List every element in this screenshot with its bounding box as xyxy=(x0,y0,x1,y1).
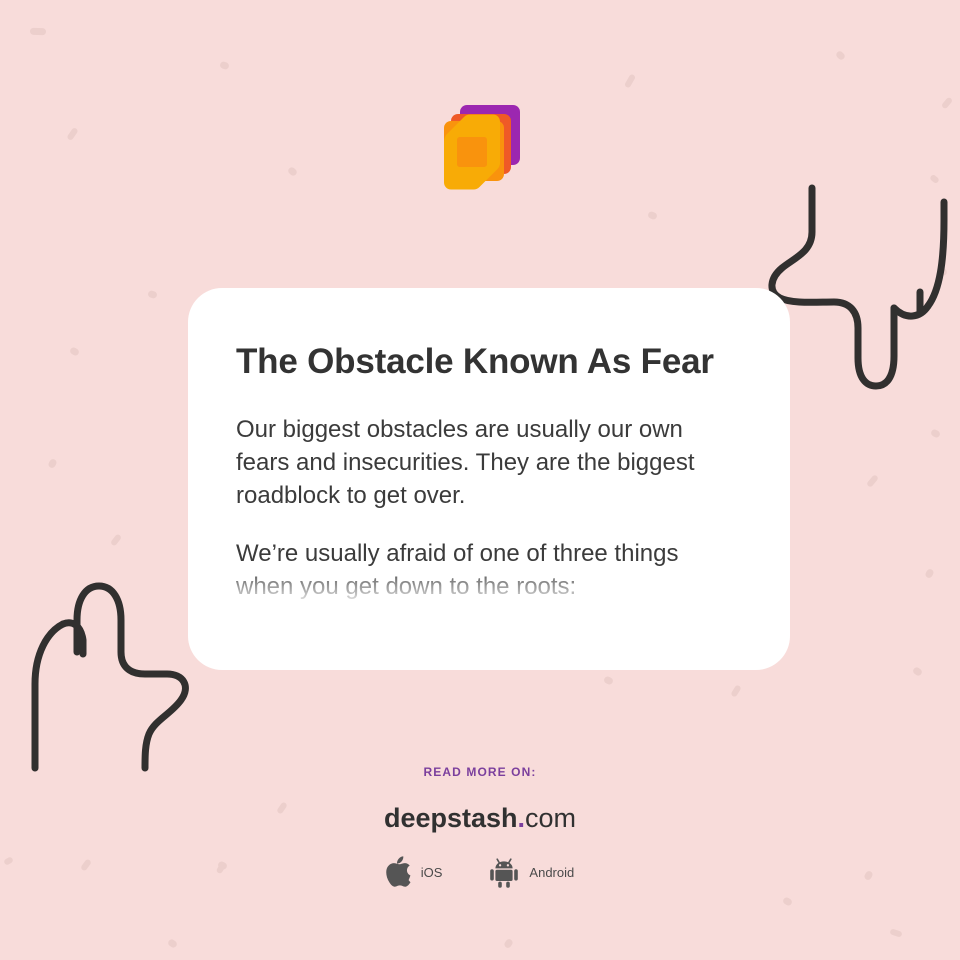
confetti-dash xyxy=(30,28,46,36)
logo-container xyxy=(0,103,960,199)
site-name-dot: . xyxy=(518,803,526,833)
confetti-dash xyxy=(930,428,941,438)
hand-left-outline-b xyxy=(77,586,185,768)
page-title: The Obstacle Known As Fear xyxy=(236,337,742,387)
confetti-dash xyxy=(937,266,948,277)
confetti-dash xyxy=(219,61,230,71)
apple-logo-glyph xyxy=(386,856,410,886)
store-badge-ios[interactable]: iOS xyxy=(386,856,443,888)
confetti-dash xyxy=(147,290,158,299)
hand-left-outline-a xyxy=(35,624,63,768)
site-name-tld: com xyxy=(525,803,576,833)
store-label-android: Android xyxy=(529,865,574,880)
content-card: The Obstacle Known As Fear Our biggest o… xyxy=(188,288,790,670)
read-more-label: READ MORE ON: xyxy=(0,765,960,779)
hand-right-outline-c xyxy=(928,202,944,306)
share-card-canvas: The Obstacle Known As Fear Our biggest o… xyxy=(0,0,960,960)
confetti-dash xyxy=(889,928,902,937)
store-label-ios: iOS xyxy=(421,865,443,880)
confetti-dash xyxy=(167,938,178,949)
confetti-dash xyxy=(730,684,741,697)
confetti-dash xyxy=(835,50,846,61)
confetti-dash xyxy=(47,458,58,469)
hand-left-svg xyxy=(25,560,200,775)
card-paragraph-2: We’re usually afraid of one of three thi… xyxy=(236,537,742,604)
site-name-brand: deepstash xyxy=(384,803,518,833)
app-store-row: iOS xyxy=(0,856,960,888)
android-icon xyxy=(488,856,520,888)
hand-left-finger-1 xyxy=(63,623,83,654)
confetti-dash xyxy=(503,938,514,949)
store-badge-android[interactable]: Android xyxy=(488,856,574,888)
hand-line-art-right xyxy=(760,180,960,400)
hand-right-svg xyxy=(760,180,960,395)
footer: READ MORE ON: deepstash.com iOS xyxy=(0,765,960,888)
confetti-dash xyxy=(647,211,658,221)
hand-right-outline-b xyxy=(894,306,928,316)
card-paragraph-1: Our biggest obstacles are usually our ow… xyxy=(236,413,742,513)
confetti-dash xyxy=(866,474,879,488)
android-robot-glyph xyxy=(491,859,519,888)
hand-right-outline-a xyxy=(772,188,894,386)
confetti-dash xyxy=(624,73,636,88)
confetti-dash xyxy=(912,666,923,677)
confetti-dash xyxy=(924,568,935,579)
hand-line-art-left xyxy=(25,560,200,780)
confetti-dash xyxy=(782,896,793,907)
confetti-dash xyxy=(110,533,122,546)
apple-icon xyxy=(386,856,412,888)
confetti-dash xyxy=(603,675,614,685)
site-name[interactable]: deepstash.com xyxy=(0,805,960,832)
deepstash-logo-icon xyxy=(438,103,522,199)
confetti-dash xyxy=(69,346,80,357)
